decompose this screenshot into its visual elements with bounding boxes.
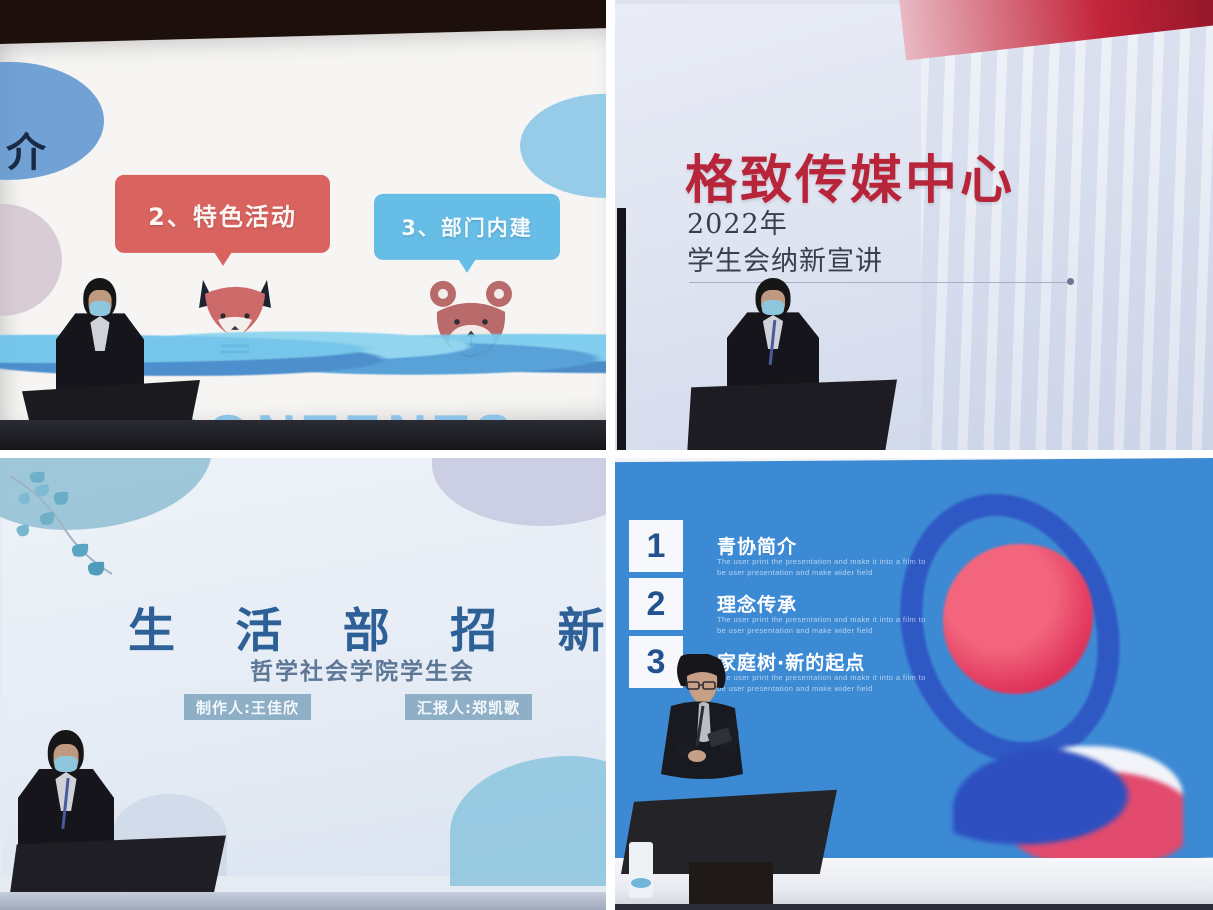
lectern [687,378,897,450]
trash-bin [629,842,653,898]
speaker-silhouette [647,654,759,818]
bubble-label-red: 2、特色活动 [148,196,297,231]
slide-title: 生 活 部 招 新 [128,592,606,661]
slide-subtitle-event: 学生会纳新宣讲 [687,239,883,278]
decor-blue-ellipse-right [520,94,606,198]
photo-panel-bottom-right: 1 青协简介 The user print the presentation a… [615,458,1213,910]
agenda-body-2-line-1: The user print the presentation and make… [717,614,926,625]
slide-bubble-department-building: 3、部门内建 [374,194,560,260]
gutter-vertical-top [606,0,615,450]
stage-floor [0,420,606,450]
gutter-vertical-bottom [606,458,615,910]
watermark: · · [1193,877,1203,884]
lectern-base [689,862,773,910]
face-mask-icon [89,301,110,316]
projection-screen-title-slide: 格致传媒中心 2022年 学生会纳新宣讲 [615,4,1213,450]
agenda-body-1-line-2: be user presentation and make wider fiel… [717,567,873,578]
gutter-horizontal-left [0,450,606,458]
face-mask-icon [54,756,77,773]
agenda-heading-2: 理念传承 [717,590,797,617]
photo-panel-top-left: 介 2、特色活动 3、部门内建 [0,0,606,450]
screen-frame-post [617,208,626,450]
decor-artwork-lower [953,746,1183,870]
trash-bin-lid [631,878,651,888]
face-mask-icon [762,300,784,315]
photo-panel-bottom-left: 生 活 部 招 新 哲学社会学院学生会 制作人:王佳欣 汇报人:郑凯歌 · · [0,458,606,910]
agenda-body-2-line-2: be user presentation and make wider fiel… [717,625,873,636]
slide-tag-maker: 制作人:王佳欣 [184,694,311,720]
clipped-heading-char: 介 [6,120,46,178]
decor-pillar-stripes [921,4,1213,450]
decor-lavender-blob-top-right [432,458,606,526]
slide-tag-presenter: 汇报人:郑凯歌 [405,694,532,720]
photo-panel-top-right: 格致传媒中心 2022年 学生会纳新宣讲 [615,0,1213,450]
slide-subtitle: 哲学社会学院学生会 [250,652,475,686]
agenda-heading-1: 青协简介 [717,532,797,559]
leafy-branch-icon [8,470,148,620]
slide-bubble-featured-activities: 2、特色活动 [115,175,330,253]
decor-rule-dot [1067,278,1074,285]
gutter-center [606,450,615,458]
gutter-horizontal-right [615,450,1213,458]
slide-subtitle-year: 2022年 [687,202,788,241]
photo-collage: 介 2、特色活动 3、部门内建 [0,0,1213,910]
agenda-number-2: 2 [629,578,683,630]
watermark: · · [592,881,602,888]
decor-gray-ellipse [0,204,62,316]
stage-edge [0,892,606,910]
stage-edge [615,904,1213,910]
decor-blue-blob-bottom-right [450,756,606,886]
agenda-body-1-line-1: The user print the presentation and make… [717,556,926,567]
bubble-label-blue: 3、部门内建 [401,212,533,242]
agenda-number-1: 1 [629,520,683,572]
